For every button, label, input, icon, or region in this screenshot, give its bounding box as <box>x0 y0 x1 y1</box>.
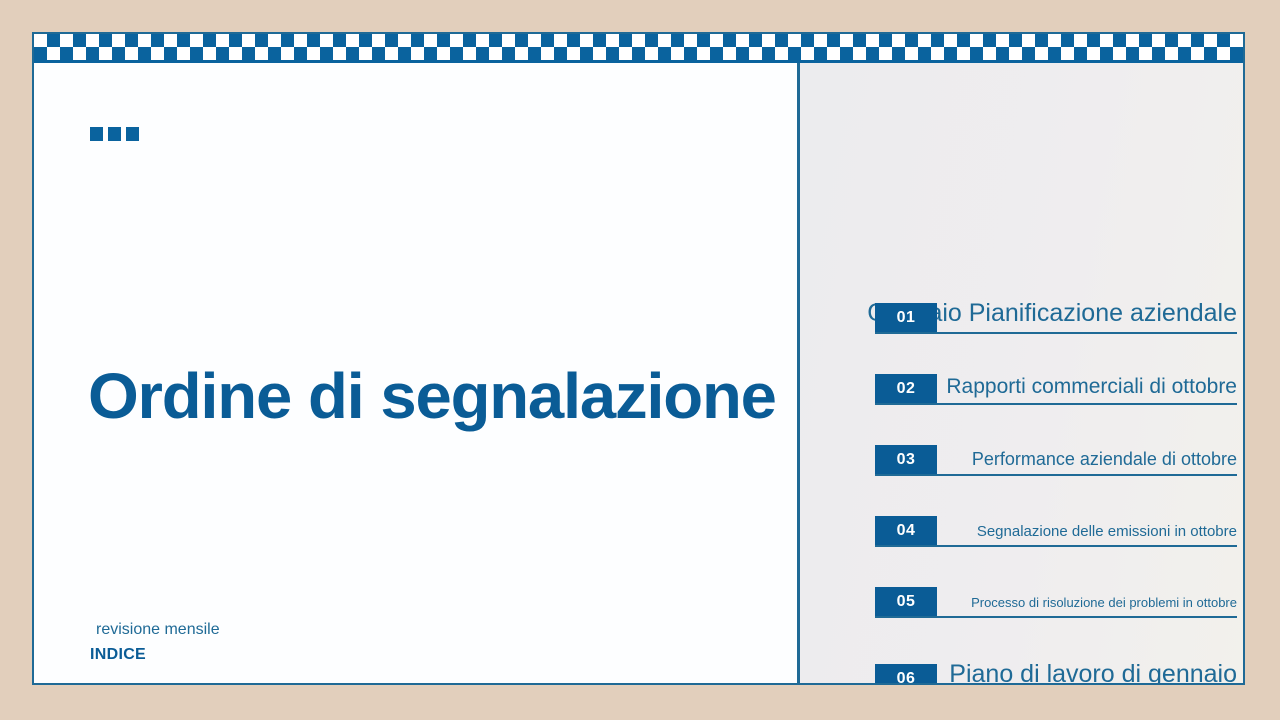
agenda-item-number: 03 <box>875 445 937 474</box>
agenda-item-number: 01 <box>875 303 937 332</box>
agenda-item-label: Piano di lavoro di gennaio <box>949 660 1237 685</box>
agenda-item-rule <box>875 616 1237 618</box>
agenda-item-number: 05 <box>875 587 937 616</box>
agenda-item-number: 02 <box>875 374 937 403</box>
decoration-square-1 <box>90 127 103 141</box>
agenda-item-rule <box>875 545 1237 547</box>
list-item[interactable]: Performance aziendale di ottobre 03 <box>875 434 1237 476</box>
decoration-square-2 <box>108 127 121 141</box>
agenda-item-number: 04 <box>875 516 937 545</box>
page-title: Ordine di segnalazione <box>88 363 822 430</box>
list-item[interactable]: Gennaio Pianificazione aziendale 01 <box>875 292 1237 334</box>
agenda-list: Gennaio Pianificazione aziendale 01 Rapp… <box>875 63 1237 685</box>
footer-block: revisione mensile INDICE <box>90 617 220 667</box>
agenda-item-rule <box>875 403 1237 405</box>
agenda-item-label: Processo di risoluzione dei problemi in … <box>971 595 1237 610</box>
agenda-item-rule <box>875 332 1237 334</box>
agenda-item-label: Rapporti commerciali di ottobre <box>946 375 1237 399</box>
list-item[interactable]: Processo di risoluzione dei problemi in … <box>875 576 1237 618</box>
slide-frame: Ordine di segnalazione revisione mensile… <box>32 32 1245 685</box>
left-panel: Ordine di segnalazione revisione mensile… <box>34 63 797 685</box>
list-item[interactable]: Piano di lavoro di gennaio 06 <box>875 653 1237 685</box>
list-item[interactable]: Rapporti commerciali di ottobre 02 <box>875 363 1237 405</box>
checkered-pattern-band <box>34 34 1243 60</box>
agenda-item-label: Performance aziendale di ottobre <box>972 449 1237 470</box>
list-item[interactable]: Segnalazione delle emissioni in ottobre … <box>875 505 1237 547</box>
agenda-item-rule <box>875 474 1237 476</box>
footer-subtitle: revisione mensile <box>90 617 220 643</box>
decoration-square-3 <box>126 127 139 141</box>
three-squares-decoration-icon <box>90 127 139 141</box>
agenda-item-number: 06 <box>875 664 937 685</box>
right-panel: Gennaio Pianificazione aziendale 01 Rapp… <box>800 63 1245 685</box>
footer-label: INDICE <box>90 643 220 667</box>
agenda-item-label: Segnalazione delle emissioni in ottobre <box>977 523 1237 540</box>
